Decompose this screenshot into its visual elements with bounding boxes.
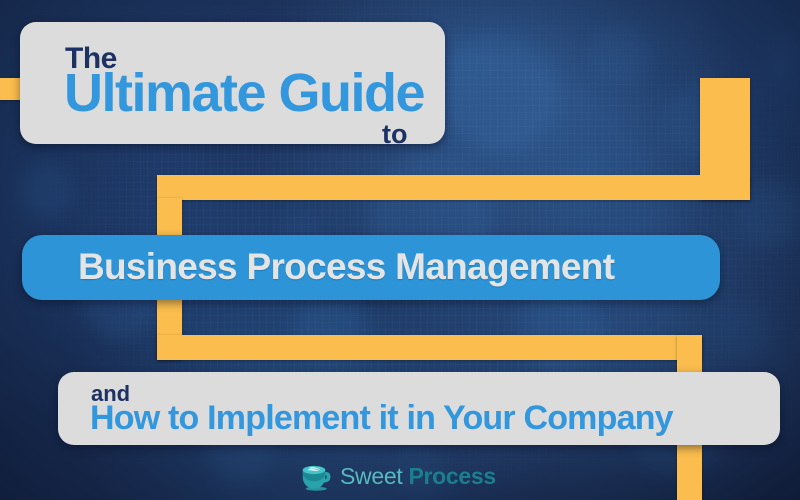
sweetprocess-logo[interactable]: Sweet Process xyxy=(300,459,500,493)
secondary-panel: and How to Implement it in Your Company xyxy=(58,372,780,445)
logo-word-process: Process xyxy=(408,465,495,488)
title-panel: The Ultimate Guide to xyxy=(20,22,445,144)
connector-lower-horizontal-rail xyxy=(157,335,702,360)
title-main-heading: Ultimate Guide xyxy=(64,62,424,124)
secondary-main-heading: How to Implement it in Your Company xyxy=(90,399,673,438)
coffee-cup-icon xyxy=(300,461,334,491)
logo-word-sweet: Sweet xyxy=(340,465,402,488)
connector-top-rail-cap xyxy=(157,175,750,200)
title-suffix-to: to xyxy=(382,119,407,150)
subject-label: Business Process Management xyxy=(78,246,614,288)
connector-left-edge-stub xyxy=(0,78,20,100)
subject-panel: Business Process Management xyxy=(22,235,720,300)
